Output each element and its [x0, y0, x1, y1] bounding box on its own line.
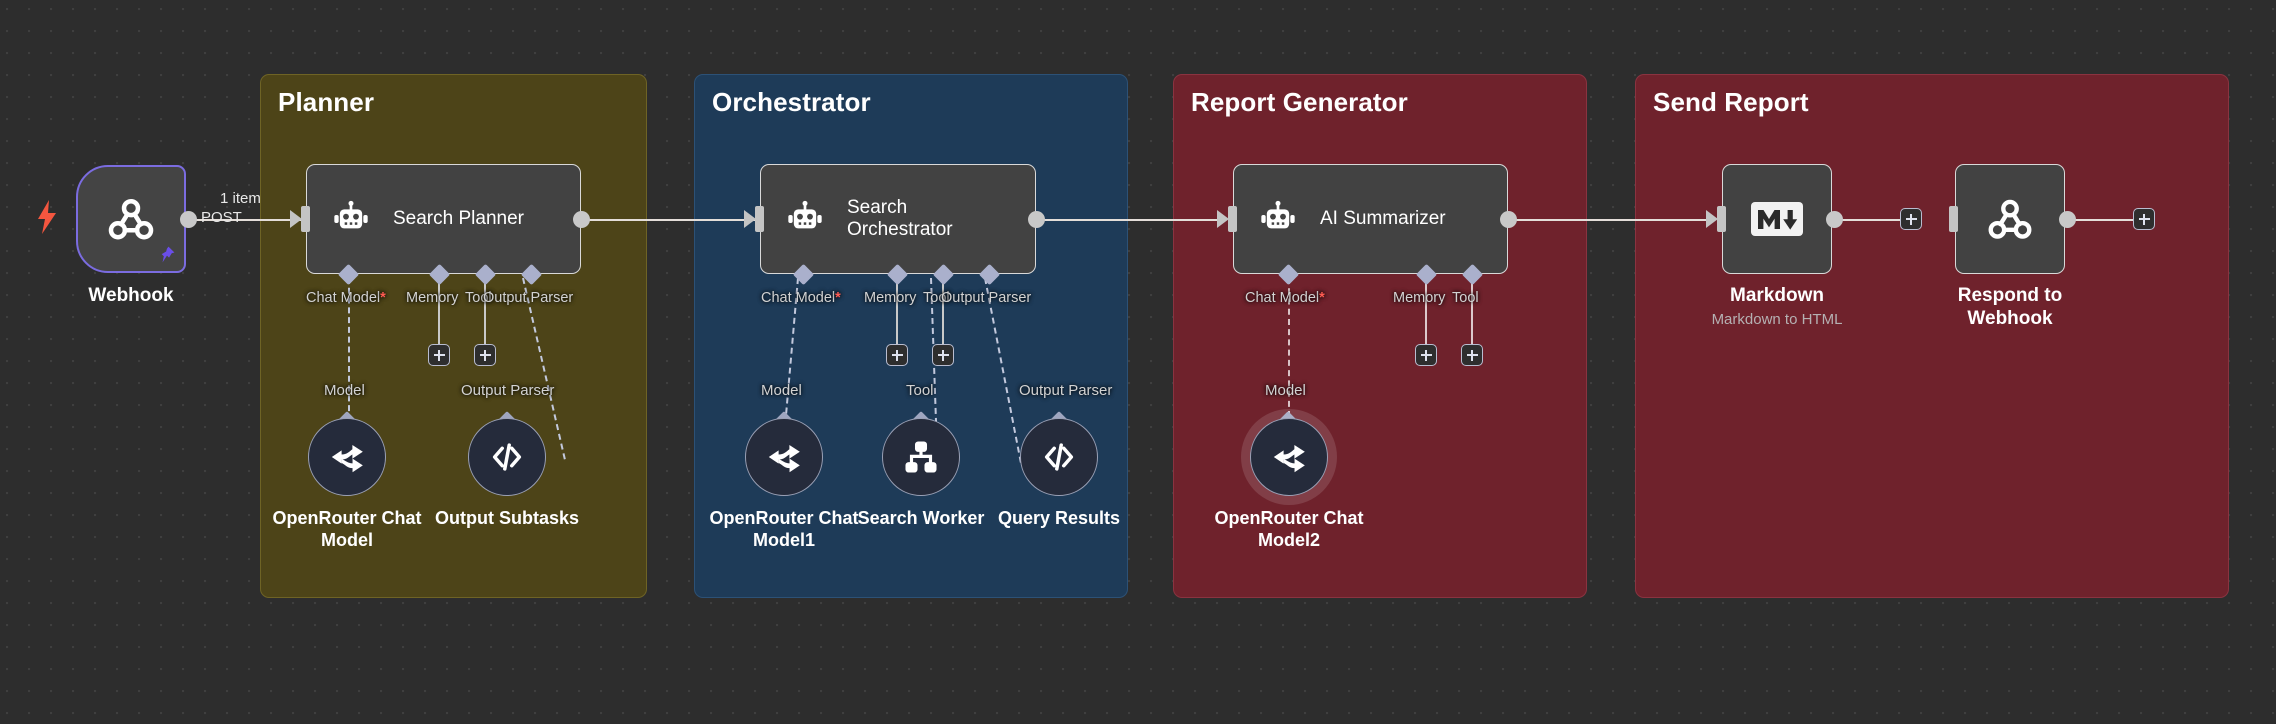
- port-output-respond-to-webhook[interactable]: [2059, 211, 2076, 228]
- edge-ai-summarizer-to-markdown: [1516, 219, 1708, 221]
- robot-icon: [785, 199, 825, 239]
- add-report-tool-button[interactable]: [1461, 344, 1483, 366]
- workflow-canvas[interactable]: Planner Orchestrator Report Generator Se…: [0, 0, 2276, 724]
- subnode-label-output-subtasks: Output Subtasks: [423, 508, 591, 530]
- edge-summarizer-memory: [1425, 278, 1427, 345]
- connector-label-chat-model-planner: Chat Model*: [306, 290, 386, 306]
- node-title-ai-summarizer: AI Summarizer: [1320, 208, 1446, 230]
- node-sublabel-markdown: Markdown to HTML: [1692, 311, 1862, 328]
- port-output-search-planner[interactable]: [573, 211, 590, 228]
- connector-label-memory-planner: Memory: [406, 290, 458, 306]
- pin-icon[interactable]: [157, 244, 176, 265]
- port-output-webhook[interactable]: [180, 211, 197, 228]
- webhook-icon: [104, 192, 158, 246]
- connector-label-output-parser-planner: Output Parser: [483, 290, 573, 306]
- group-title-orchestrator: Orchestrator: [712, 87, 871, 118]
- edge-summarizer-tool: [1471, 278, 1473, 345]
- openrouter-icon: [765, 438, 803, 476]
- node-label-markdown: Markdown: [1692, 285, 1862, 308]
- robot-icon: [1258, 199, 1298, 239]
- node-label-respond-to-webhook: Respond to Webhook: [1915, 285, 2105, 331]
- port-label-output-parser-orchestrator: Output Parser: [1019, 382, 1112, 399]
- port-label-model-planner: Model: [324, 382, 365, 399]
- edge-orchestrator-tool-line: [942, 278, 944, 345]
- edge-orchestrator-memory: [896, 278, 898, 345]
- robot-icon: [331, 199, 371, 239]
- port-label-model-summarizer: Model: [1265, 382, 1306, 399]
- subnode-openrouter-chat-model2[interactable]: [1250, 418, 1328, 496]
- edge-label-post: POST: [201, 209, 242, 226]
- node-markdown[interactable]: [1722, 164, 1832, 274]
- node-search-orchestrator[interactable]: Search Orchestrator: [760, 164, 1036, 274]
- port-label-tool-orchestrator: Tool: [906, 382, 934, 399]
- add-after-markdown-button[interactable]: [1900, 208, 1922, 230]
- node-title-search-orchestrator: Search Orchestrator: [847, 197, 953, 242]
- port-label-output-parser-planner: Output Parser: [461, 382, 554, 399]
- node-title-search-planner: Search Planner: [393, 208, 524, 230]
- add-orchestrator-tool-button[interactable]: [932, 344, 954, 366]
- subnode-label-openrouter-chat-model: OpenRouter Chat Model: [263, 508, 431, 551]
- required-marker: *: [380, 290, 386, 306]
- add-planner-tool-button[interactable]: [474, 344, 496, 366]
- connector-label-tool-summarizer: Tool: [1452, 290, 1479, 306]
- subnode-label-openrouter-chat-model2: OpenRouter Chat Model2: [1205, 508, 1373, 551]
- edge-planner-memory: [438, 278, 440, 345]
- subnode-query-results[interactable]: [1020, 418, 1098, 496]
- openrouter-icon: [1270, 438, 1308, 476]
- edge-markdown-to-add: [1842, 219, 1902, 221]
- subnode-openrouter-chat-model[interactable]: [308, 418, 386, 496]
- edge-planner-tool: [484, 278, 486, 345]
- hierarchy-icon: [902, 438, 940, 476]
- port-input-search-planner[interactable]: [301, 206, 310, 232]
- connector-label-chat-model-orchestrator: Chat Model*: [761, 290, 841, 306]
- add-report-memory-button[interactable]: [1415, 344, 1437, 366]
- port-output-ai-summarizer[interactable]: [1500, 211, 1517, 228]
- port-input-ai-summarizer[interactable]: [1228, 206, 1237, 232]
- required-marker: *: [1319, 290, 1325, 306]
- port-label-model-orchestrator: Model: [761, 382, 802, 399]
- group-title-planner: Planner: [278, 87, 374, 118]
- node-label-webhook: Webhook: [56, 285, 206, 308]
- add-after-respond-button[interactable]: [2133, 208, 2155, 230]
- port-output-search-orchestrator[interactable]: [1028, 211, 1045, 228]
- group-title-report-generator: Report Generator: [1191, 87, 1408, 118]
- edge-search-orchestrator-to-ai-summarizer: [1044, 219, 1220, 221]
- add-orchestrator-memory-button[interactable]: [886, 344, 908, 366]
- edge-search-planner-to-search-orchestrator: [589, 219, 759, 221]
- openrouter-icon: [328, 438, 366, 476]
- subnode-label-query-results: Query Results: [975, 508, 1143, 530]
- connector-label-memory-orchestrator: Memory: [864, 290, 916, 306]
- port-input-markdown[interactable]: [1717, 206, 1726, 232]
- group-title-send-report: Send Report: [1653, 87, 1809, 118]
- node-respond-to-webhook[interactable]: [1955, 164, 2065, 274]
- subnode-openrouter-chat-model1[interactable]: [745, 418, 823, 496]
- connector-label-chat-model-summarizer: Chat Model*: [1245, 290, 1325, 306]
- node-webhook[interactable]: [76, 165, 186, 273]
- subnode-search-worker[interactable]: [882, 418, 960, 496]
- edge-respond-to-add: [2075, 219, 2135, 221]
- node-ai-summarizer[interactable]: AI Summarizer: [1233, 164, 1508, 274]
- group-send-report[interactable]: Send Report: [1635, 74, 2229, 598]
- add-planner-memory-button[interactable]: [428, 344, 450, 366]
- code-icon: [488, 438, 526, 476]
- webhook-icon: [1984, 193, 2036, 245]
- edge-label-1-item: 1 item: [220, 190, 261, 207]
- required-marker: *: [835, 290, 841, 306]
- subnode-output-subtasks[interactable]: [468, 418, 546, 496]
- code-icon: [1040, 438, 1078, 476]
- connector-label-memory-summarizer: Memory: [1393, 290, 1445, 306]
- port-input-respond-to-webhook[interactable]: [1949, 206, 1958, 232]
- port-output-markdown[interactable]: [1826, 211, 1843, 228]
- node-search-planner[interactable]: Search Planner: [306, 164, 581, 274]
- lightning-bolt-icon: [36, 200, 58, 234]
- markdown-icon: [1751, 200, 1803, 238]
- connector-label-output-parser-orchestrator: Output Parser: [941, 290, 1031, 306]
- port-input-search-orchestrator[interactable]: [755, 206, 764, 232]
